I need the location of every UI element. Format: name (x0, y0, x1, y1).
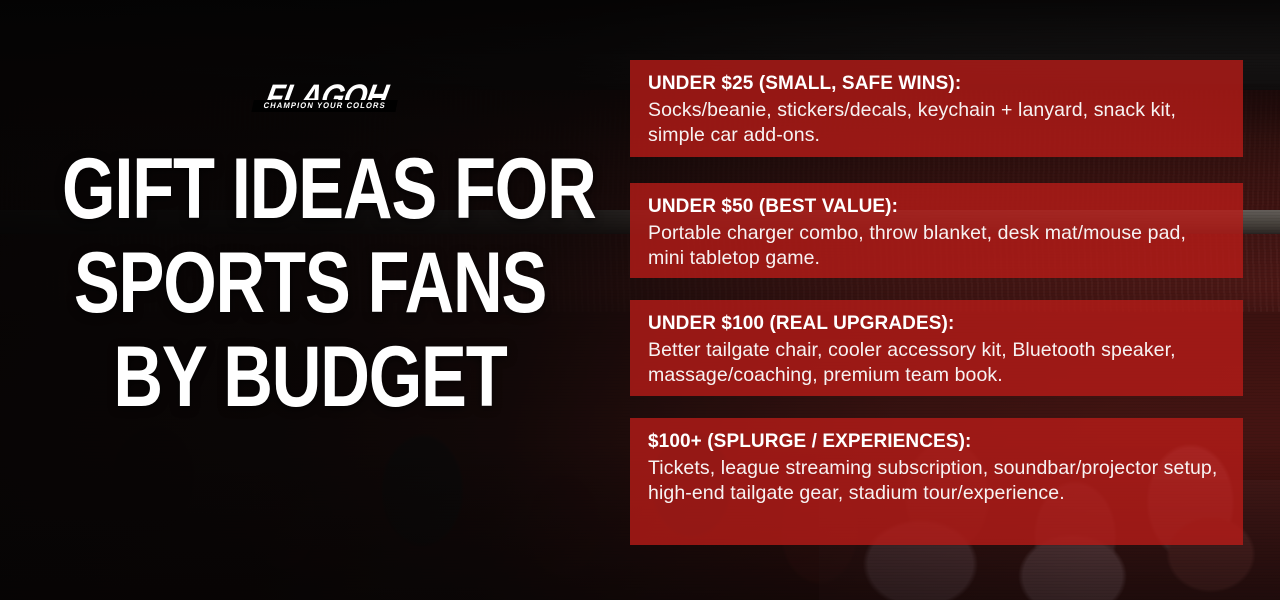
budget-tier-panel: UNDER $50 (BEST VALUE): Portable charger… (630, 183, 1243, 278)
budget-tier-panel-list: UNDER $25 (SMALL, SAFE WINS): Socks/bean… (0, 0, 1280, 600)
budget-tier-body: Better tailgate chair, cooler accessory … (648, 338, 1223, 388)
budget-tier-title: UNDER $100 (REAL UPGRADES): (648, 312, 1223, 336)
budget-tier-body: Socks/beanie, stickers/decals, keychain … (648, 98, 1223, 148)
budget-tier-panel: $100+ (SPLURGE / EXPERIENCES): Tickets, … (630, 418, 1243, 545)
budget-tier-panel: UNDER $25 (SMALL, SAFE WINS): Socks/bean… (630, 60, 1243, 157)
budget-tier-title: $100+ (SPLURGE / EXPERIENCES): (648, 430, 1223, 454)
budget-tier-title: UNDER $25 (SMALL, SAFE WINS): (648, 72, 1223, 96)
budget-tier-panel: UNDER $100 (REAL UPGRADES): Better tailg… (630, 300, 1243, 396)
budget-tier-title: UNDER $50 (BEST VALUE): (648, 195, 1223, 219)
budget-tier-body: Tickets, league streaming subscription, … (648, 456, 1223, 506)
budget-tier-body: Portable charger combo, throw blanket, d… (648, 221, 1223, 271)
promo-banner: FLAGOH CHAMPION YOUR COLORS GIFT IDEAS F… (0, 0, 1280, 600)
